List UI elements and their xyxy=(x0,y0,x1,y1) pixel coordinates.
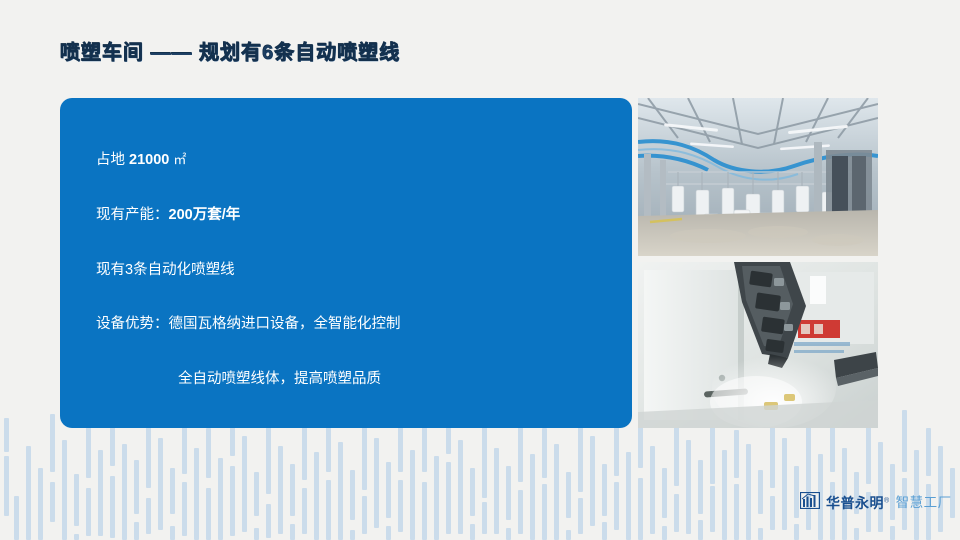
decor-bar xyxy=(4,418,9,452)
page-title: 喷塑车间 —— 规划有6条自动喷塑线 xyxy=(60,36,400,65)
decor-bar xyxy=(50,482,55,522)
decor-bar xyxy=(230,466,235,536)
decor-bar xyxy=(602,464,607,516)
decor-bar xyxy=(218,458,223,540)
decor-bar xyxy=(326,424,331,472)
decor-bar xyxy=(74,474,79,526)
decor-bar xyxy=(242,436,247,532)
decor-bar xyxy=(590,436,595,526)
decor-bar xyxy=(698,460,703,514)
decor-bar xyxy=(902,410,907,472)
decor-bar xyxy=(482,420,487,498)
decor-bar xyxy=(854,528,859,540)
decor-bar xyxy=(458,440,463,534)
decor-bar xyxy=(290,464,295,516)
info-line-emphasis: 21000 xyxy=(129,152,173,168)
decor-bar xyxy=(170,468,175,514)
info-line-text: 占地 xyxy=(96,152,129,168)
spray-robot-photo xyxy=(638,262,878,428)
decor-bar xyxy=(722,450,727,540)
decor-bar xyxy=(98,450,103,536)
decor-bar xyxy=(770,496,775,530)
info-panel: 占地 21000 ㎡现有产能：200万套/年现有3条自动化喷塑线设备优势：德国瓦… xyxy=(60,98,632,428)
decor-bar xyxy=(890,526,895,540)
decor-bar xyxy=(182,482,187,536)
decor-bar xyxy=(674,494,679,532)
decor-bar xyxy=(4,456,9,516)
decor-bar xyxy=(266,418,271,494)
info-line-text: 现有产能： xyxy=(96,207,169,223)
decor-bar xyxy=(878,442,883,532)
decor-bar xyxy=(374,438,379,528)
decor-bar xyxy=(146,498,151,534)
decor-bar xyxy=(566,530,571,540)
decor-bar xyxy=(434,456,439,540)
decor-bar xyxy=(278,446,283,534)
decor-bar xyxy=(398,480,403,532)
decor-bar xyxy=(350,530,355,540)
decor-bar xyxy=(734,484,739,540)
decor-bar xyxy=(494,448,499,534)
decor-bar xyxy=(518,490,523,534)
info-line: 现有产能：200万套/年 xyxy=(96,205,612,227)
decor-bar xyxy=(758,470,763,514)
decor-bar xyxy=(794,524,799,540)
decor-bar xyxy=(686,440,691,534)
decor-bar xyxy=(110,476,115,538)
factory-building-icon xyxy=(800,492,820,514)
decor-bar xyxy=(194,448,199,540)
registered-mark: ® xyxy=(884,497,890,504)
decor-bar xyxy=(314,452,319,540)
decor-bar xyxy=(482,502,487,534)
decor-bar xyxy=(338,442,343,540)
brand-name-text: 华普永明 xyxy=(826,495,884,511)
decor-bar xyxy=(386,526,391,540)
decor-bar xyxy=(206,428,211,478)
info-line-unit: ㎡ xyxy=(173,152,186,167)
decor-bar xyxy=(422,426,427,472)
decor-bar xyxy=(158,438,163,530)
info-line-text: 全自动喷塑线体，提高喷塑品质 xyxy=(178,371,381,387)
info-line-text: 现有3条自动化喷塑线 xyxy=(96,262,235,278)
decor-bar xyxy=(254,472,259,516)
decor-bar xyxy=(26,446,31,540)
decor-bar xyxy=(386,462,391,518)
decor-bar xyxy=(506,528,511,540)
decor-bar xyxy=(110,422,115,466)
decor-bar xyxy=(134,522,139,540)
decor-bar xyxy=(86,488,91,536)
decor-bar xyxy=(602,522,607,540)
workshop-overhead-conveyor-photo xyxy=(638,98,878,256)
decor-bar xyxy=(566,472,571,518)
decor-bar xyxy=(578,418,583,492)
decor-bar xyxy=(710,486,715,532)
brand-logo: 华普永明® 智慧工厂 xyxy=(800,492,952,514)
info-line-emphasis: 200万套/年 xyxy=(169,207,241,223)
decor-bar xyxy=(422,482,427,540)
decorative-bar-pattern xyxy=(0,410,960,540)
decor-bar xyxy=(50,414,55,472)
info-list: 占地 21000 ㎡现有产能：200万套/年现有3条自动化喷塑线设备优势：德国瓦… xyxy=(96,150,612,391)
decor-bar xyxy=(506,466,511,520)
decor-bar xyxy=(446,462,451,534)
decor-bar xyxy=(14,496,19,540)
decor-bar xyxy=(302,488,307,534)
decor-bar xyxy=(530,454,535,540)
decor-bar xyxy=(746,444,751,540)
brand-name: 华普永明® xyxy=(826,496,890,510)
decor-bar xyxy=(170,526,175,540)
decor-bar xyxy=(290,524,295,540)
info-line: 占地 21000 ㎡ xyxy=(96,150,612,172)
info-line: 全自动喷塑线体，提高喷塑品质 xyxy=(96,369,612,391)
decor-bar xyxy=(758,528,763,540)
decor-bar xyxy=(662,468,667,518)
decor-bar xyxy=(734,430,739,478)
info-line-text: 设备优势：德国瓦格纳进口设备，全智能化控制 xyxy=(96,316,401,332)
decor-bar xyxy=(650,446,655,534)
decor-bar xyxy=(362,496,367,534)
decor-bar xyxy=(266,504,271,538)
decor-bar xyxy=(470,468,475,516)
decor-bar xyxy=(794,466,799,518)
decor-bar xyxy=(554,444,559,540)
decor-bar xyxy=(134,460,139,514)
info-line: 设备优势：德国瓦格纳进口设备，全智能化控制 xyxy=(96,314,612,336)
decor-bar xyxy=(62,440,67,540)
decor-bar xyxy=(74,534,79,540)
info-line: 现有3条自动化喷塑线 xyxy=(96,260,612,282)
decor-bar xyxy=(122,444,127,540)
decor-bar xyxy=(542,428,547,478)
decor-bar xyxy=(206,488,211,540)
brand-sub: 智慧工厂 xyxy=(896,496,952,510)
decor-bar xyxy=(326,480,331,540)
decor-bar xyxy=(38,468,43,540)
decor-bar xyxy=(614,482,619,530)
decor-bar xyxy=(638,478,643,540)
decor-bar xyxy=(782,438,787,530)
decor-bar xyxy=(542,484,547,540)
decor-bar xyxy=(410,450,415,540)
decor-bar xyxy=(662,526,667,540)
decor-bar xyxy=(578,498,583,534)
decor-bar xyxy=(254,528,259,540)
decor-bar xyxy=(638,424,643,468)
decor-bar xyxy=(698,520,703,540)
decor-bar xyxy=(350,470,355,520)
decor-bar xyxy=(626,452,631,540)
decor-bar xyxy=(830,426,835,472)
decor-bar xyxy=(926,428,931,476)
decor-bar xyxy=(938,446,943,532)
decor-bar xyxy=(470,524,475,540)
